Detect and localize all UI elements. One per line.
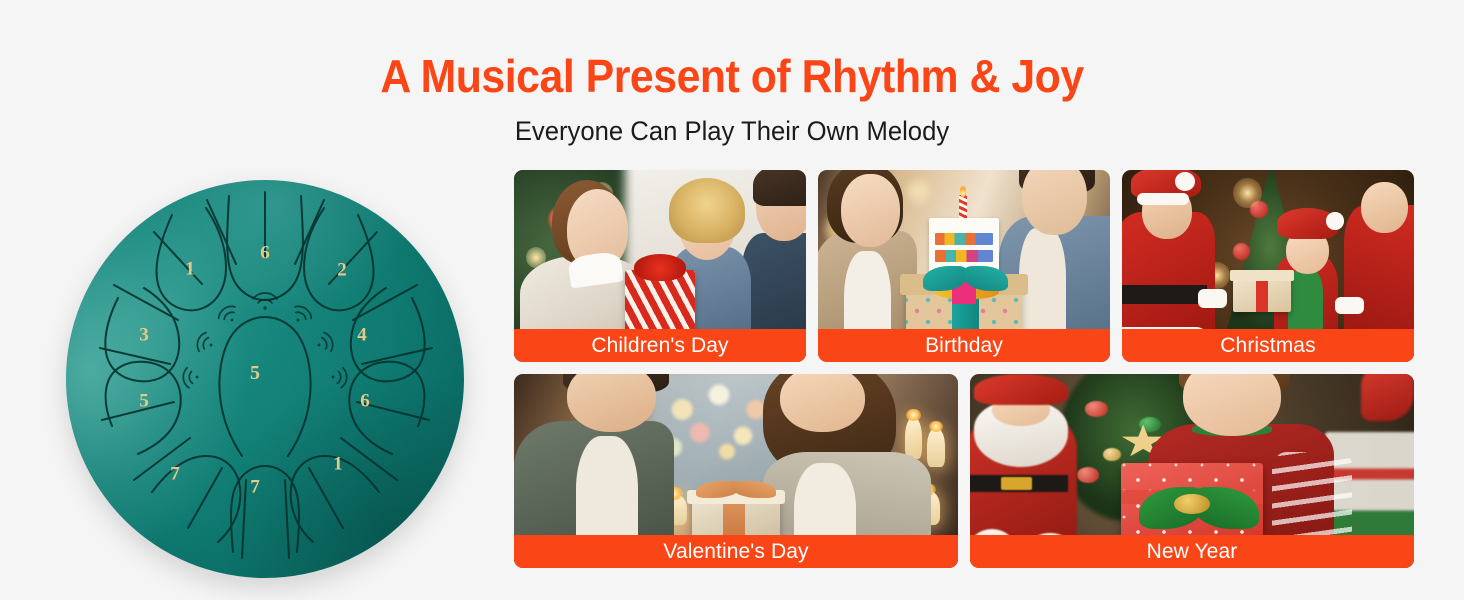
page-subtitle: Everyone Can Play Their Own Melody	[37, 114, 1428, 148]
occasion-label: Birthday	[818, 329, 1110, 362]
banner-header: A Musical Present of Rhythm & Joy Everyo…	[0, 0, 1464, 148]
tongue-number-bottom: 7	[250, 477, 260, 498]
occasion-row-top: Children's Day	[514, 170, 1414, 362]
tongue-number-right: 4	[357, 325, 367, 346]
tongue-number-left: 3	[139, 325, 149, 346]
tongue-number-top: 6	[260, 243, 270, 264]
tongue-number-lower-left: 5	[139, 391, 149, 412]
tongue-number-upper-left: 1	[185, 259, 195, 280]
page-title: A Musical Present of Rhythm & Joy	[51, 48, 1413, 104]
product-image-steel-tongue-drum: 6 1 2 3 4 5 6 7 7 1 5	[58, 176, 478, 596]
occasion-card-new-year[interactable]: New Year	[970, 374, 1414, 568]
occasion-card-christmas[interactable]: Christmas	[1122, 170, 1414, 362]
occasion-label: New Year	[970, 535, 1414, 568]
tongue-number-upper-right: 2	[337, 260, 347, 281]
drum-body: 6 1 2 3 4 5 6 7 7 1 5	[66, 180, 464, 578]
occasion-label: Christmas	[1122, 329, 1414, 362]
occasion-card-valentines-day[interactable]: Valentine's Day	[514, 374, 958, 568]
occasion-card-childrens-day[interactable]: Children's Day	[514, 170, 806, 362]
occasion-row-bottom: Valentine's Day	[514, 374, 1414, 568]
sound-ripple-decoration	[182, 293, 347, 388]
tongue-number-bottom-left: 7	[170, 464, 180, 485]
drum-tongue-engraving: 6 1 2 3 4 5 6 7 7 1 5	[66, 180, 464, 578]
tongue-number-center: 5	[250, 362, 260, 384]
occasion-card-birthday[interactable]: Birthday	[818, 170, 1110, 362]
occasion-card-grid: Children's Day	[514, 170, 1414, 568]
tongue-number-bottom-right: 1	[333, 454, 343, 475]
occasion-label: Valentine's Day	[514, 535, 958, 568]
tongue-number-lower-right: 6	[360, 391, 370, 412]
occasion-label: Children's Day	[514, 329, 806, 362]
